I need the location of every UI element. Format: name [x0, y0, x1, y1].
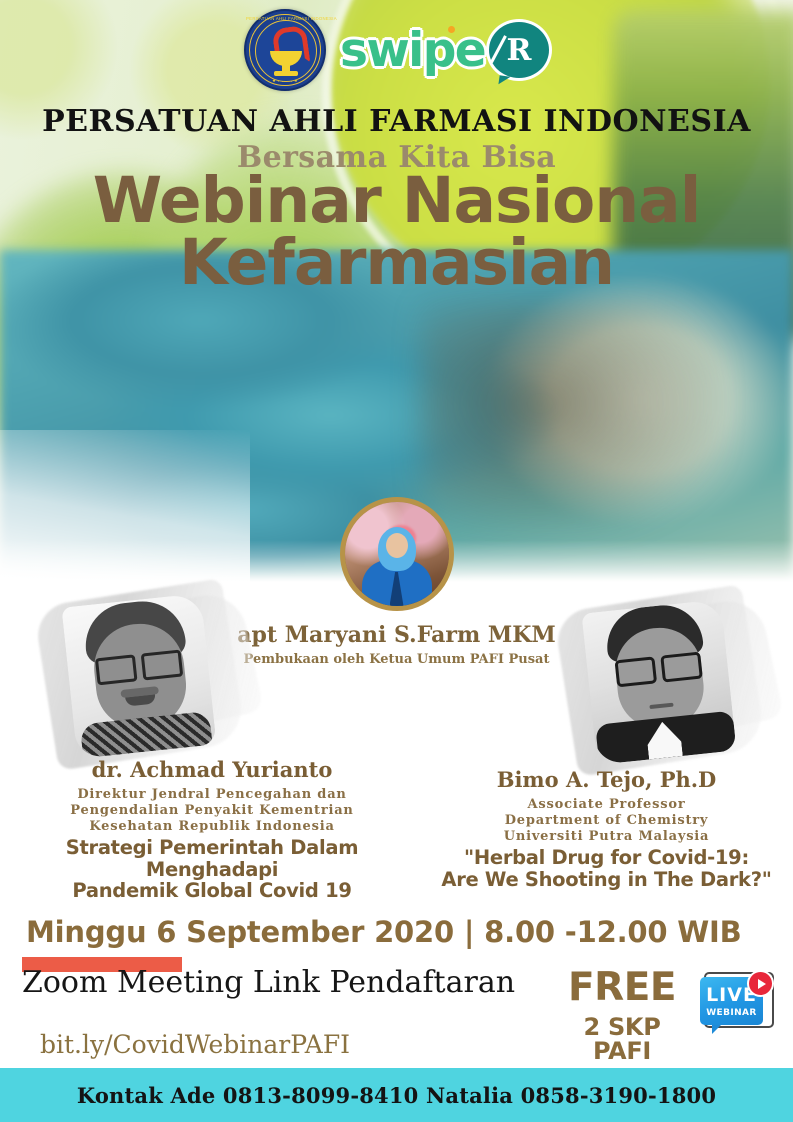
page-title: Webinar Nasional Kefarmasian [0, 170, 793, 293]
speaker-block-right: Bimo A. Tejo, Ph.D Associate Professor D… [420, 768, 793, 890]
badge-webinar-text: WEBINAR [700, 1009, 763, 1018]
topic-line: Pandemik Global Covid 19 [0, 880, 424, 902]
speaker-block-left: dr. Achmad Yurianto Direktur Jendral Pen… [0, 758, 424, 902]
topic-line: Are We Shooting in The Dark?" [420, 869, 793, 891]
rx-slash-icon [490, 35, 506, 63]
speaker-name-right: Bimo A. Tejo, Ph.D [420, 768, 793, 791]
event-datetime: Minggu 6 September 2020 | 8.00 -12.00 WI… [26, 915, 742, 949]
live-webinar-badge: LIVE WEBINAR [700, 970, 774, 1036]
rx-letter: R [507, 33, 532, 68]
swipe-wordmark: swipe [340, 27, 485, 74]
rx-bubble-tail-icon [498, 75, 510, 85]
contact-text: Kontak Ade 0813-8099-8410 Natalia 0858-3… [77, 1083, 716, 1108]
play-button-icon [747, 970, 774, 997]
pafi-logo-icon: PERSATUAN AHLI FARMASI INDONESIA ★ P A F… [244, 9, 326, 91]
topic-line: "Herbal Drug for Covid-19: [420, 847, 793, 869]
webinar-poster: PERSATUAN AHLI FARMASI INDONESIA ★ P A F… [0, 0, 793, 1122]
speaker-affiliation-right: Associate Professor Department of Chemis… [420, 797, 793, 845]
price-label: FREE [552, 968, 692, 1007]
logo-row: PERSATUAN AHLI FARMASI INDONESIA ★ P A F… [0, 8, 793, 92]
affiliation-line: Direktur Jendral Pencegahan dan [0, 787, 424, 803]
avatar-bimo-tejo [565, 598, 755, 763]
speaker-portrait-right [581, 599, 736, 765]
gloved-hands-shadow [420, 300, 720, 530]
topic-line: Strategi Pemerintah Dalam Menghadapi [0, 837, 424, 881]
event-platform-line: Zoom Meeting Link Pendaftaran [22, 965, 515, 1000]
speaker-topic-left: Strategi Pemerintah Dalam Menghadapi Pan… [0, 837, 424, 902]
pafi-foot-icon [274, 71, 298, 76]
organization-name: PERSATUAN AHLI FARMASI INDONESIA [0, 104, 793, 139]
pafi-logo-inner [255, 20, 317, 82]
avatar-achmad-yurianto [45, 592, 235, 757]
affiliation-line: Associate Professor [420, 797, 793, 813]
registration-link[interactable]: bit.ly/CovidWebinarPAFI [40, 1030, 350, 1059]
credits-label: 2 SKP PAFI [552, 1015, 692, 1063]
affiliation-line: Department of Chemistry [420, 813, 793, 829]
swipe-i-dot-icon [448, 26, 455, 33]
contact-bar: Kontak Ade 0813-8099-8410 Natalia 0858-3… [0, 1068, 793, 1122]
affiliation-line: Kesehatan Republik Indonesia [0, 819, 424, 835]
affiliation-line: Universiti Putra Malaysia [420, 829, 793, 845]
speaker-name-left: dr. Achmad Yurianto [0, 758, 424, 781]
rx-speech-bubble-icon: R [489, 22, 549, 78]
title-line-2: Kefarmasian [0, 232, 793, 294]
speaker-portrait-left [61, 593, 216, 759]
avatar-face [386, 533, 408, 558]
speaker-affiliation-left: Direktur Jendral Pencegahan dan Pengenda… [0, 787, 424, 835]
swipe-wordmark-text: swipe [340, 23, 485, 78]
swiperx-logo: swipe R [340, 22, 549, 78]
price-block: FREE 2 SKP PAFI [552, 968, 692, 1063]
avatar-maryani [340, 497, 454, 611]
speaker-topic-right: "Herbal Drug for Covid-19: Are We Shooti… [420, 847, 793, 891]
affiliation-line: Pengendalian Penyakit Kementrian [0, 803, 424, 819]
